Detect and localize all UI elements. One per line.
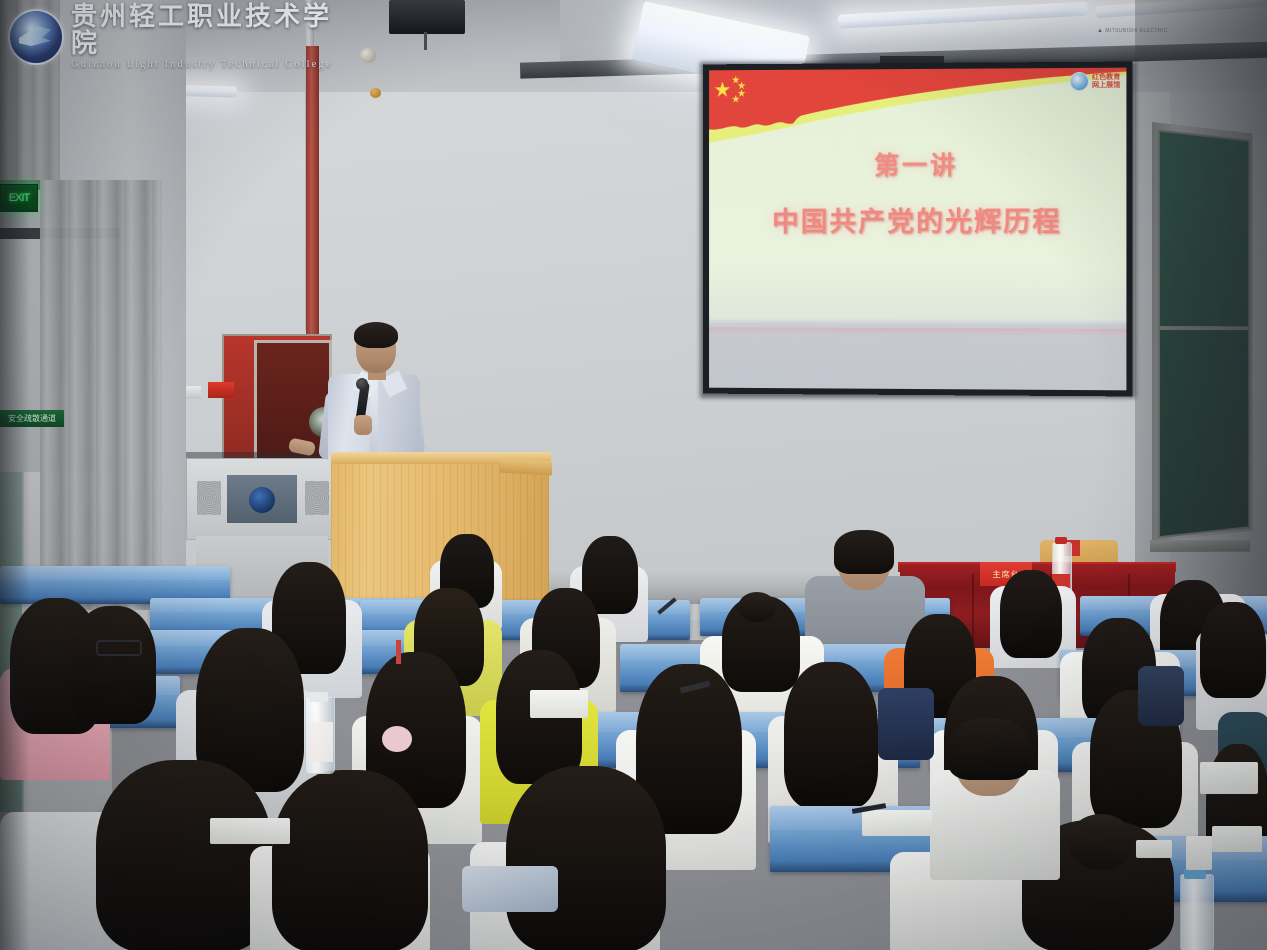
eyeglasses-icon xyxy=(96,640,142,656)
chalkboard-surface xyxy=(1158,130,1250,539)
tissue-pack-icon xyxy=(1186,836,1212,870)
slide-corner-logo: 红色教育 网上展馆 xyxy=(1070,72,1121,91)
pipe-fitting-icon xyxy=(370,88,381,98)
projector-brand-label: ▲MITSUBISHI ELECTRIC xyxy=(1097,28,1168,34)
fire-sprinkler-pipe xyxy=(306,46,319,341)
folded-garment-icon xyxy=(462,866,558,912)
open-notebook-icon xyxy=(862,810,932,836)
projection-screen: 红色教育 网上展馆 第一讲 中国共产党的光辉历程 xyxy=(703,62,1132,397)
slide-lecture-label: 第一讲 xyxy=(709,145,1126,182)
hair-tie-icon xyxy=(382,726,412,752)
eraser-icon xyxy=(1136,840,1172,858)
fire-alarm-plate[interactable] xyxy=(208,382,234,398)
open-notebook-icon xyxy=(1200,762,1258,794)
party-emblem-icon xyxy=(1070,72,1089,91)
podium-side-panel xyxy=(500,459,552,476)
audience-hair xyxy=(784,662,878,808)
open-notebook-icon xyxy=(1212,826,1262,852)
presenter-hair xyxy=(354,322,398,348)
audience-hair xyxy=(1200,602,1266,698)
slide-logo-text: 红色教育 网上展馆 xyxy=(1092,73,1120,89)
audience-hair xyxy=(506,766,666,950)
tablecloth-fold xyxy=(972,574,974,648)
exit-sign: EXIT xyxy=(0,184,38,212)
speaker-grille-icon xyxy=(305,481,329,515)
audience-hair xyxy=(70,606,156,724)
backpack-icon xyxy=(878,688,934,760)
slide-logo-line1: 红色教育 xyxy=(1092,73,1120,81)
audience-hair xyxy=(1000,570,1062,658)
exit-sign-label: EXIT xyxy=(9,192,29,204)
open-notebook-icon xyxy=(530,690,588,718)
audience-hair-bun xyxy=(738,592,776,622)
av-equipment-console[interactable] xyxy=(186,458,340,540)
pipe-valve-icon xyxy=(360,48,376,63)
desk-surface xyxy=(0,566,230,580)
slide-bottom-bar xyxy=(709,327,1126,390)
audience-hair-bun xyxy=(1068,814,1134,870)
microphone-head-icon xyxy=(356,378,368,390)
evacuation-notice-label: 安全疏散通道 xyxy=(8,413,56,424)
evacuation-notice-sign: 安全疏散通道 xyxy=(0,410,64,427)
audience-hair xyxy=(272,770,428,950)
left-wall xyxy=(0,0,186,600)
slide-surface: 红色教育 网上展馆 第一讲 中国共产党的光辉历程 xyxy=(709,68,1126,391)
bottle-cap-icon xyxy=(1055,537,1067,544)
audience-hair xyxy=(834,530,894,574)
light-switch-plate[interactable] xyxy=(186,386,201,399)
console-knob-icon[interactable] xyxy=(249,487,275,513)
lecture-hall-photo: EXIT 安全疏散通道 ▲MITSUBISHI ELECTRIC xyxy=(0,0,1267,950)
curtain-upper xyxy=(0,0,60,180)
fire-hose-cabinet[interactable] xyxy=(222,334,332,470)
speaker-grille-icon xyxy=(197,481,221,515)
chalkboard-divider xyxy=(1160,326,1248,330)
audience-hair xyxy=(96,760,272,950)
bottle-label-icon xyxy=(307,722,333,762)
window-curtain xyxy=(40,180,162,610)
slide-title: 中国共产党的光辉历程 xyxy=(709,200,1126,239)
presenter-right-hand xyxy=(354,415,372,435)
slide-logo-line2: 网上展馆 xyxy=(1092,81,1120,89)
open-notebook-icon xyxy=(210,818,290,844)
bottle-cap-icon xyxy=(309,692,328,702)
projector-brand-text: MITSUBISHI ELECTRIC xyxy=(1105,28,1167,34)
chalkboard xyxy=(1152,122,1252,542)
audience-hair xyxy=(948,718,1030,780)
mitsubishi-logo-icon: ▲ xyxy=(1097,28,1103,34)
ceiling-speaker-icon xyxy=(389,0,465,34)
water-bottle-icon xyxy=(1180,874,1214,950)
backpack-icon xyxy=(1138,666,1184,726)
chalk-tray xyxy=(1150,540,1250,552)
speaker-mount xyxy=(424,32,427,50)
pen-icon xyxy=(396,640,401,664)
